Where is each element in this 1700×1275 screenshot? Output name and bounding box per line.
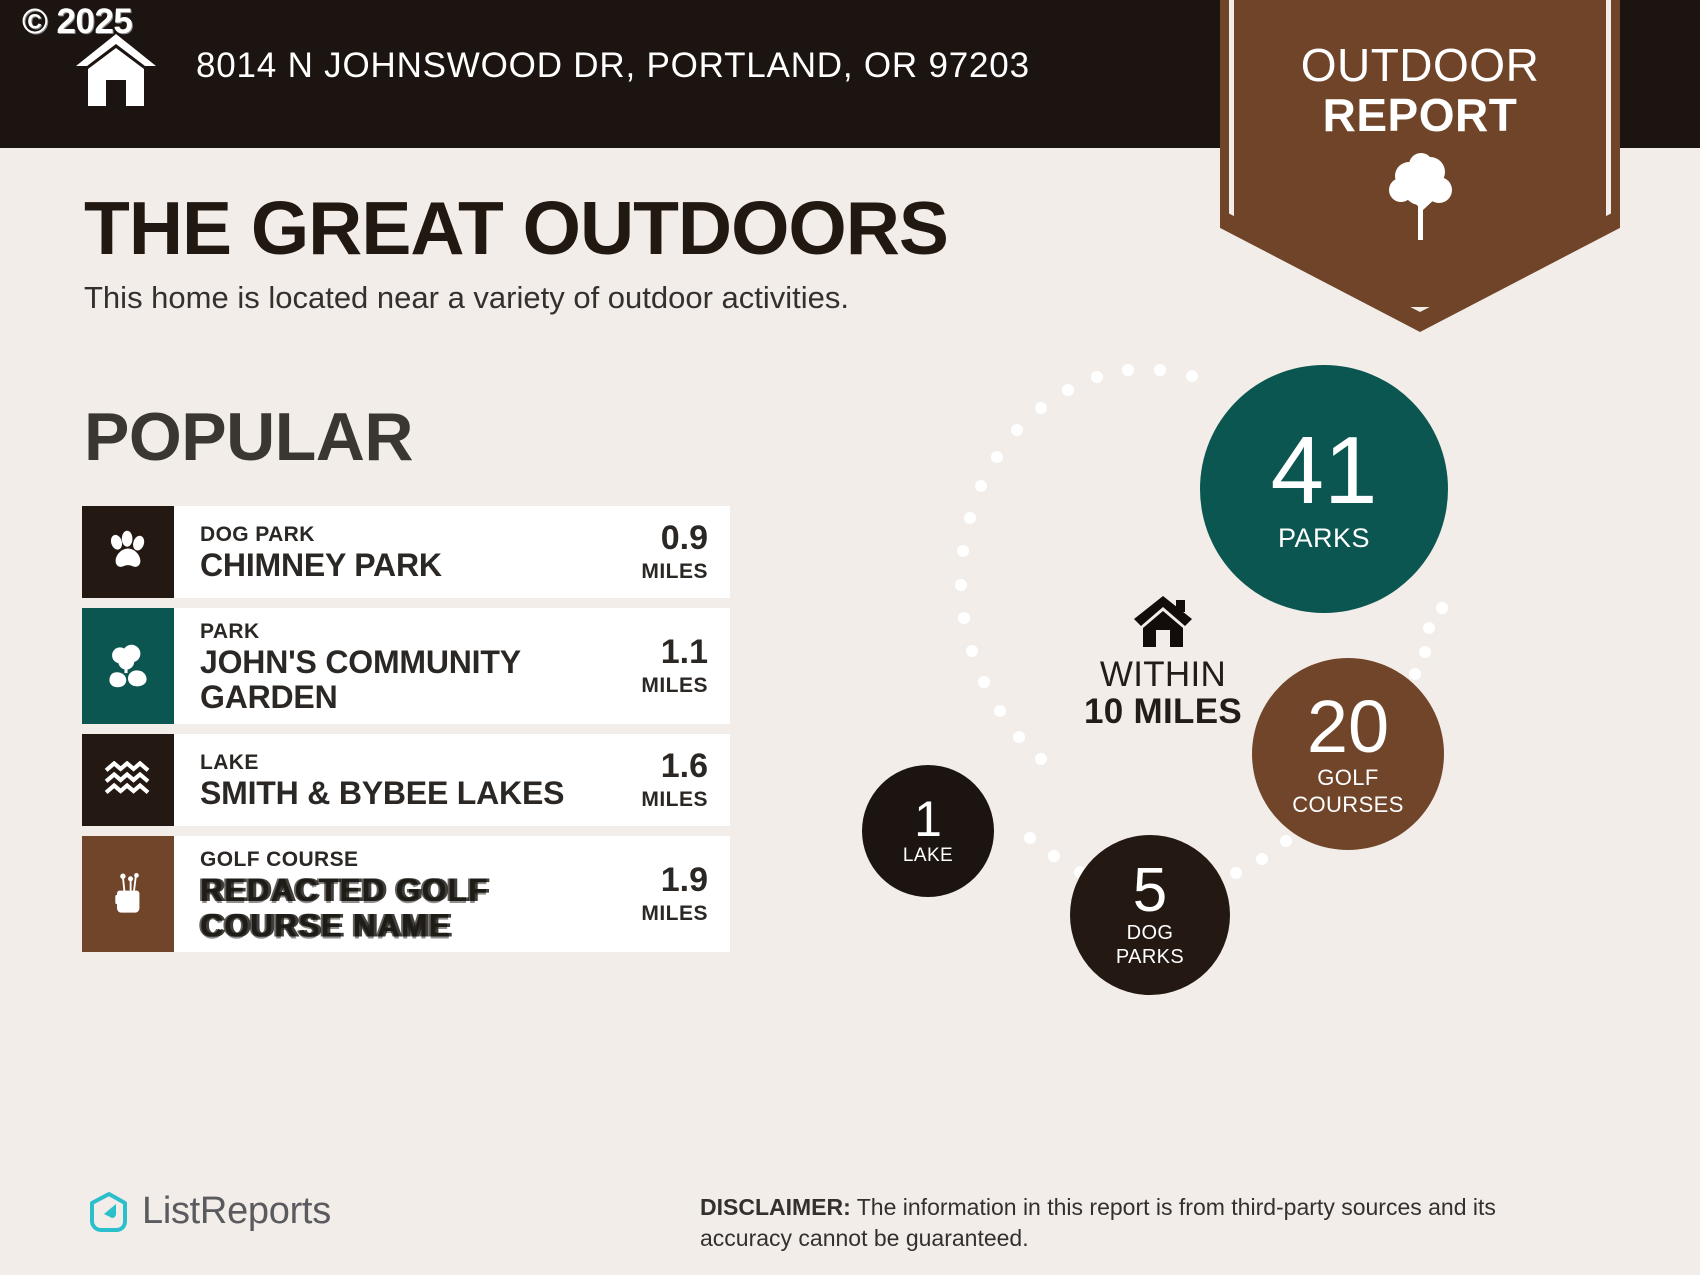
parks-label: PARKS — [1278, 524, 1370, 552]
distance-value: 1.1 — [661, 635, 708, 669]
lake-count: 1 — [914, 796, 942, 844]
parks-count: 41 — [1271, 425, 1378, 516]
list-item-icon-tile — [82, 734, 174, 826]
list-item-distance: 1.6 MILES — [610, 734, 730, 826]
distance-value: 0.9 — [661, 521, 708, 555]
list-item-name: JOHN'S COMMUNITY GARDEN — [200, 645, 610, 714]
list-item-distance: 1.1 MILES — [610, 608, 730, 724]
distance-unit: MILES — [641, 560, 708, 584]
summary-center-line2: 10 MILES — [1048, 694, 1278, 731]
list-item-category: LAKE — [200, 751, 610, 774]
list-item-text: LAKE SMITH & BYBEE LAKES — [174, 734, 610, 826]
page-title: THE GREAT OUTDOORS — [84, 185, 948, 271]
popular-heading: POPULAR — [84, 398, 413, 476]
list-item-name: REDACTED GOLF COURSE NAME — [200, 873, 610, 943]
copyright-label: © 2025 — [22, 2, 132, 42]
distance-unit: MILES — [641, 788, 708, 812]
distance-unit: MILES — [641, 674, 708, 698]
distance-value: 1.6 — [661, 749, 708, 783]
list-item-distance: 0.9 MILES — [610, 506, 730, 598]
list-item-text: DOG PARK CHIMNEY PARK — [174, 506, 610, 598]
summary-circle-parks: 41 PARKS — [1200, 365, 1448, 613]
listreports-logo-icon — [88, 1191, 130, 1233]
list-item-category: PARK — [200, 620, 610, 643]
list-item-name: SMITH & BYBEE LAKES — [200, 776, 610, 811]
golf-courses-count: 20 — [1307, 692, 1389, 762]
distance-value: 1.9 — [661, 863, 708, 897]
list-item-text: PARK JOHN'S COMMUNITY GARDEN — [174, 608, 610, 724]
page-subtitle: This home is located near a variety of o… — [84, 280, 849, 316]
badge-title-line1: OUTDOOR — [1220, 38, 1620, 92]
golf-courses-label-line1: GOLF — [1317, 766, 1379, 789]
list-item-icon-tile — [82, 836, 174, 952]
list-item[interactable]: PARK JOHN'S COMMUNITY GARDEN 1.1 MILES — [82, 608, 730, 724]
list-item-distance: 1.9 MILES — [610, 836, 730, 952]
list-item-name: CHIMNEY PARK — [200, 548, 610, 583]
list-item-icon-tile — [82, 506, 174, 598]
list-item-category: GOLF COURSE — [200, 848, 610, 871]
golf-courses-label-line2: COURSES — [1292, 793, 1404, 816]
listreports-logo[interactable]: ListReports — [88, 1190, 331, 1233]
dog-parks-count: 5 — [1133, 862, 1167, 921]
summary-circle-dog-parks: 5 DOG PARKS — [1070, 835, 1230, 995]
dog-parks-label-line2: PARKS — [1116, 947, 1184, 968]
summary-center-line1: WITHIN — [1048, 657, 1278, 694]
park-trees-icon — [105, 643, 151, 689]
popular-list: DOG PARK CHIMNEY PARK 0.9 MILES — [82, 506, 730, 962]
list-item[interactable]: GOLF COURSE REDACTED GOLF COURSE NAME 1.… — [82, 836, 730, 952]
list-item-category: DOG PARK — [200, 523, 610, 546]
summary-center: WITHIN 10 MILES — [1048, 595, 1278, 731]
distance-unit: MILES — [641, 902, 708, 926]
property-address: 8014 N JOHNSWOOD DR, PORTLAND, OR 97203 — [196, 46, 1030, 86]
summary-circle-lake: 1 LAKE — [862, 765, 994, 897]
golf-bag-icon — [106, 872, 150, 916]
dog-parks-label-line1: DOG — [1127, 923, 1174, 944]
paw-icon — [105, 529, 151, 575]
tree-icon — [1385, 150, 1457, 242]
list-item[interactable]: DOG PARK CHIMNEY PARK 0.9 MILES — [82, 506, 730, 598]
outdoor-report-page: © 2025 8014 N JOHNSWOOD DR, PORTLAND, OR… — [0, 0, 1700, 1275]
summary-diagram: 41 PARKS 20 GOLF COURSES 5 DOG PARKS 1 L… — [820, 340, 1520, 1040]
list-item-icon-tile — [82, 608, 174, 724]
water-waves-icon — [104, 761, 152, 799]
disclaimer-label: DISCLAIMER: — [700, 1194, 851, 1220]
summary-circle-golf-courses: 20 GOLF COURSES — [1252, 658, 1444, 850]
home-icon — [74, 32, 158, 108]
outdoor-report-badge: OUTDOOR REPORT — [1220, 0, 1620, 332]
home-icon — [1132, 595, 1194, 649]
list-item-text: GOLF COURSE REDACTED GOLF COURSE NAME — [174, 836, 610, 952]
list-item[interactable]: LAKE SMITH & BYBEE LAKES 1.6 MILES — [82, 734, 730, 826]
listreports-logo-text: ListReports — [142, 1190, 331, 1233]
lake-label: LAKE — [903, 846, 953, 866]
disclaimer: DISCLAIMER: The information in this repo… — [700, 1192, 1500, 1254]
badge-title-line2: REPORT — [1220, 88, 1620, 142]
